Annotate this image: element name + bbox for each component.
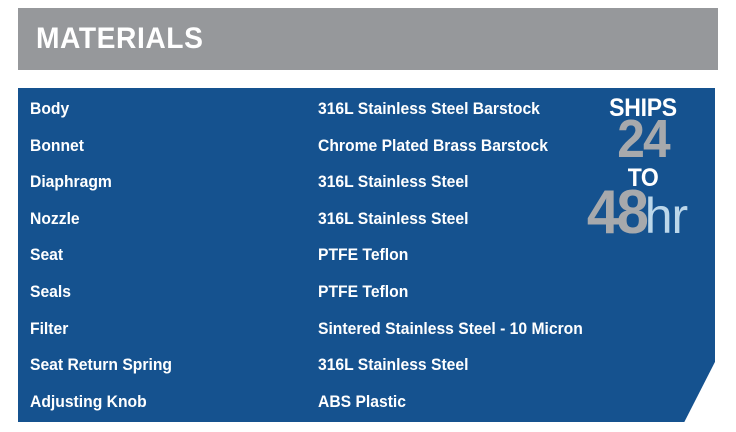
- material-part-label: Seals: [30, 284, 304, 301]
- table-row: Body 316L Stainless Steel Barstock: [18, 91, 715, 128]
- material-part-label: Adjusting Knob: [30, 394, 304, 411]
- material-value-label: Chrome Plated Brass Barstock: [318, 138, 695, 155]
- materials-panel: Body 316L Stainless Steel Barstock Bonne…: [18, 88, 715, 422]
- material-value-label: PTFE Teflon: [318, 284, 695, 301]
- material-value-label: 316L Stainless Steel: [318, 357, 695, 374]
- page-title: MATERIALS: [36, 24, 203, 54]
- table-row: Adjusting Knob ABS Plastic: [18, 384, 715, 421]
- material-value-label: 316L Stainless Steel: [318, 174, 695, 191]
- table-row: Diaphragm 316L Stainless Steel: [18, 164, 715, 201]
- material-part-label: Filter: [30, 321, 304, 338]
- material-value-label: 316L Stainless Steel Barstock: [318, 101, 695, 118]
- table-row: Seals PTFE Teflon: [18, 274, 715, 311]
- material-value-label: Sintered Stainless Steel - 10 Micron: [318, 321, 695, 338]
- materials-spec-page: MATERIALS Body 316L Stainless Steel Bars…: [0, 0, 736, 432]
- material-part-label: Nozzle: [30, 211, 304, 228]
- table-row: Nozzle 316L Stainless Steel: [18, 201, 715, 238]
- material-value-label: 316L Stainless Steel: [318, 211, 695, 228]
- table-row: Bonnet Chrome Plated Brass Barstock: [18, 128, 715, 165]
- material-part-label: Diaphragm: [30, 174, 304, 191]
- material-part-label: Seat: [30, 247, 304, 264]
- material-part-label: Bonnet: [30, 138, 304, 155]
- material-part-label: Body: [30, 101, 304, 118]
- material-value-label: ABS Plastic: [318, 394, 695, 411]
- table-row: Filter Sintered Stainless Steel - 10 Mic…: [18, 311, 715, 348]
- material-part-label: Seat Return Spring: [30, 357, 304, 374]
- materials-header-bar: MATERIALS: [18, 8, 718, 70]
- material-value-label: PTFE Teflon: [318, 247, 695, 264]
- table-row: Seat PTFE Teflon: [18, 237, 715, 274]
- table-row: Seat Return Spring 316L Stainless Steel: [18, 347, 715, 384]
- materials-table: Body 316L Stainless Steel Barstock Bonne…: [18, 88, 715, 420]
